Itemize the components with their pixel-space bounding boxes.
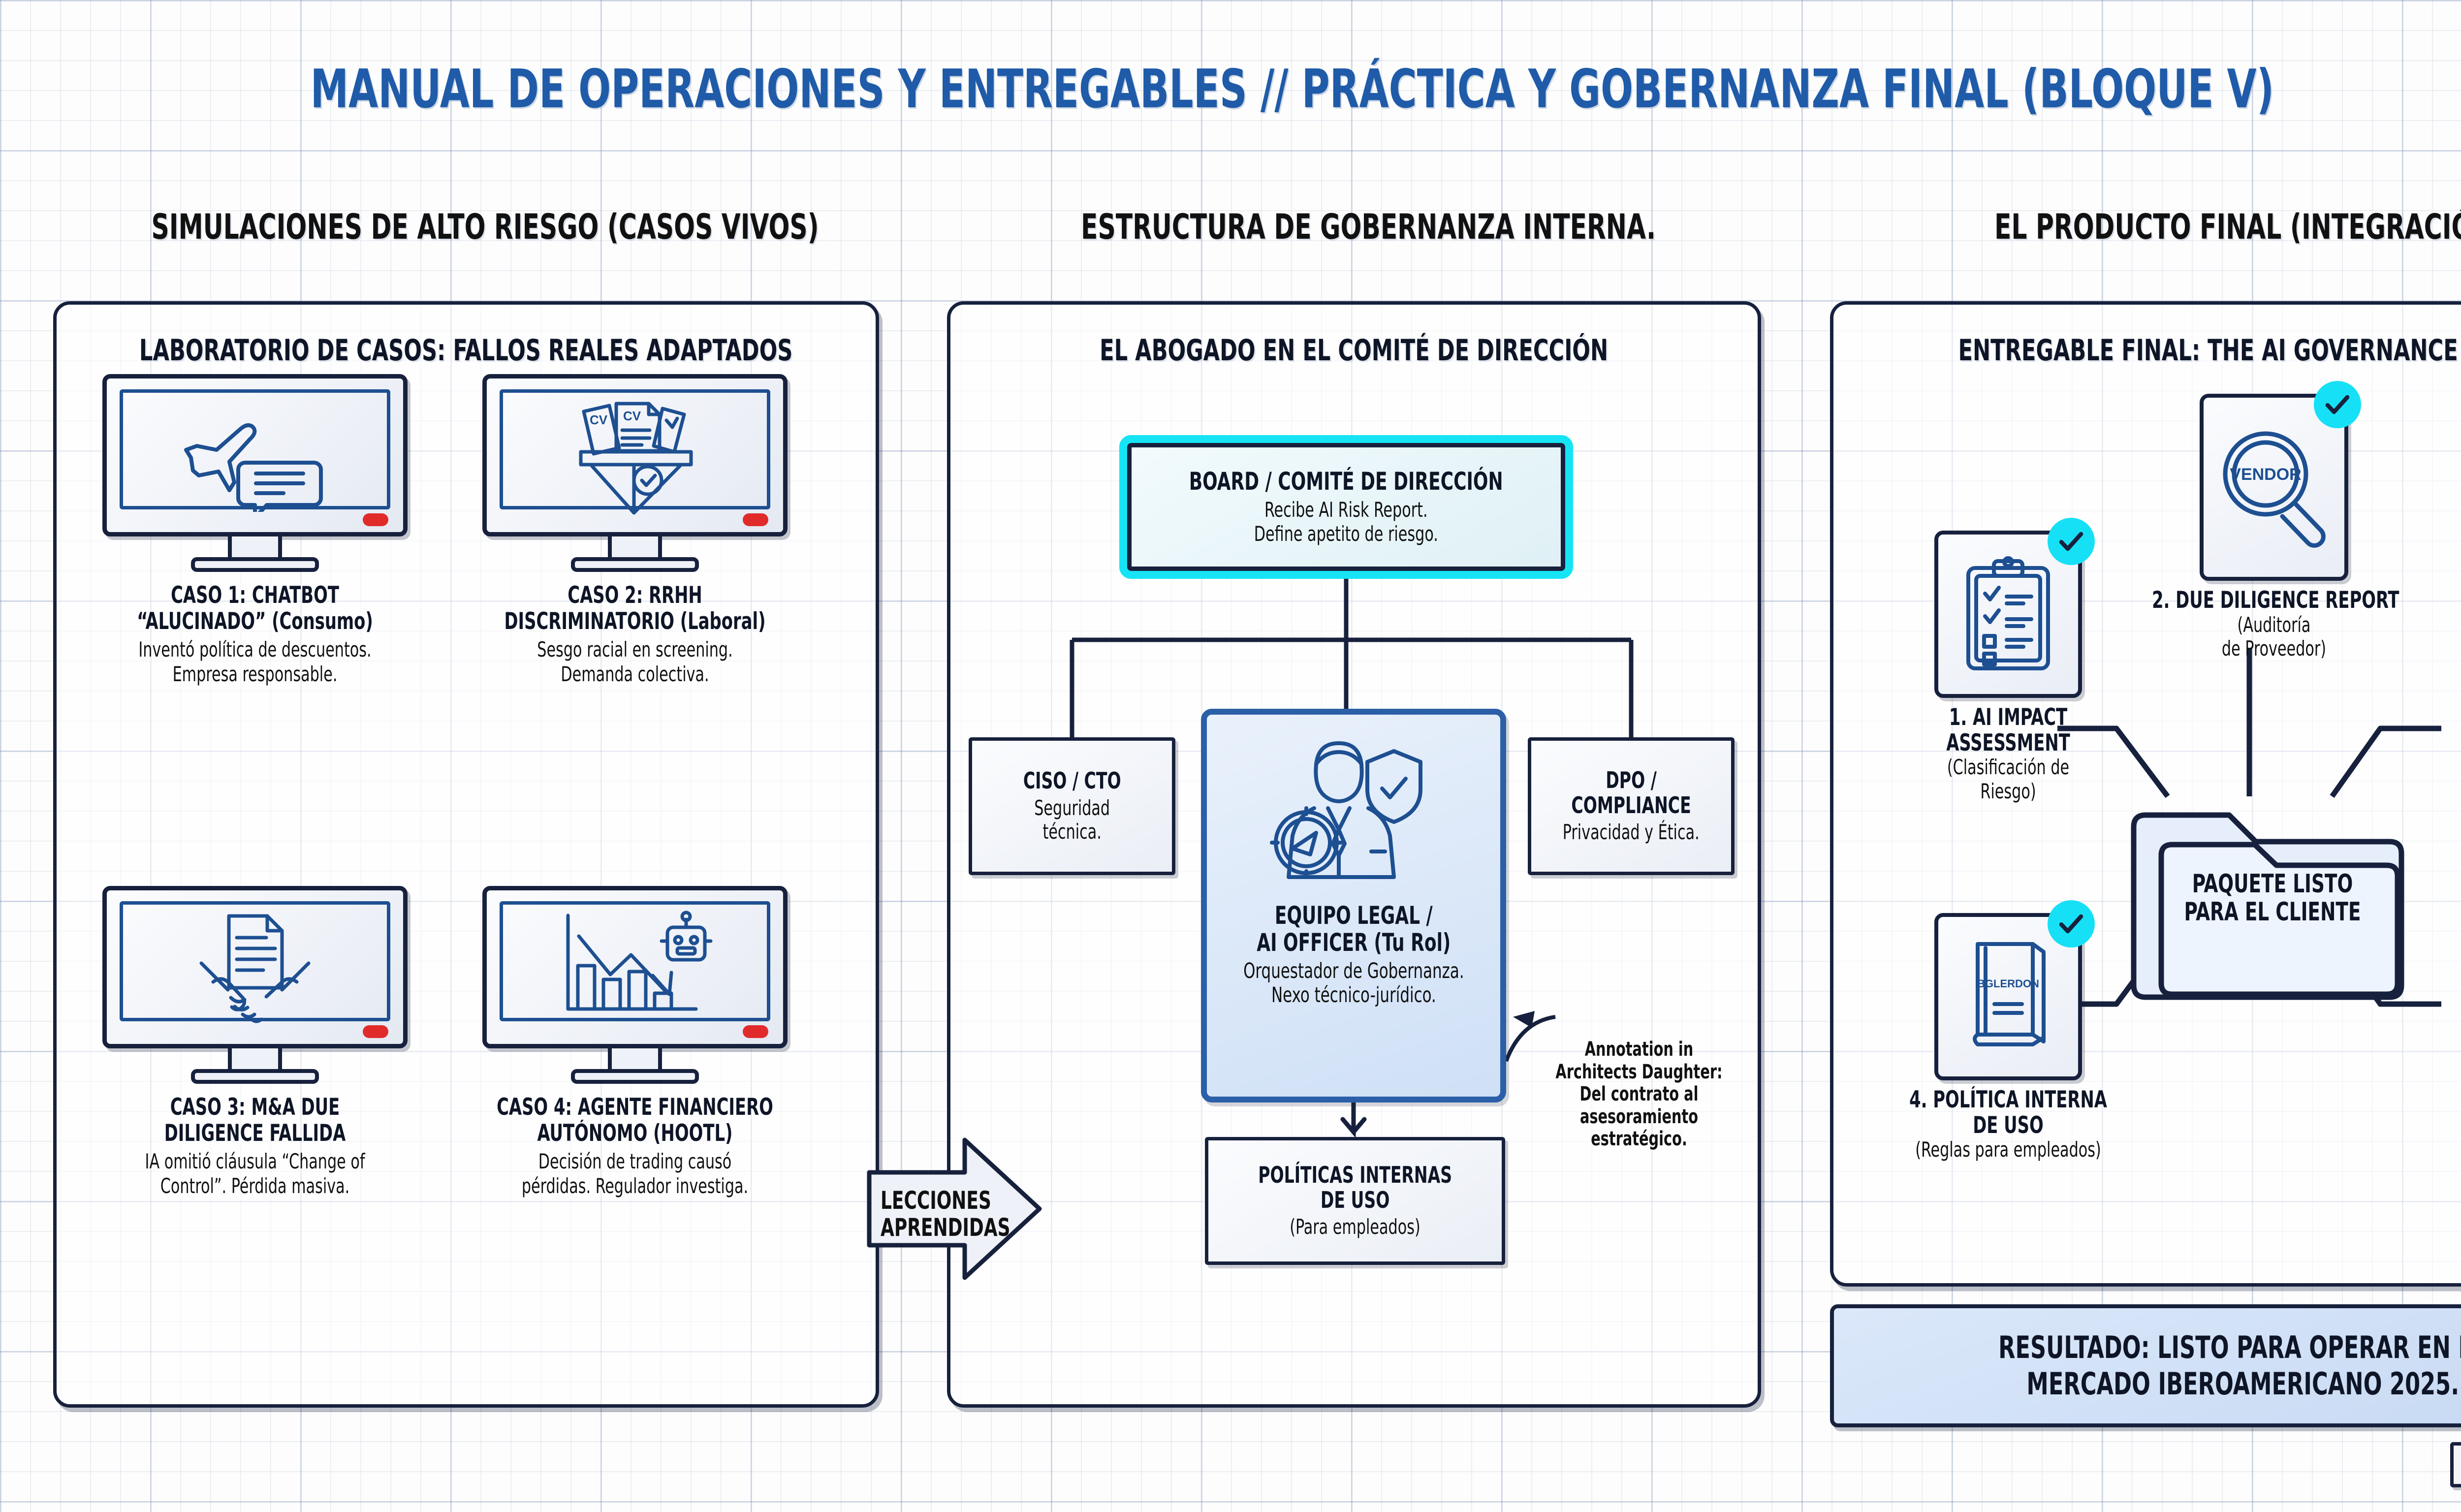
monitor-led-icon (743, 513, 768, 526)
clipboard-checklist-icon (1961, 555, 2055, 673)
officer-shield-compass-icon (1265, 729, 1442, 894)
deliverable-3-label: 3. AI ADDENDUM (2412, 705, 2461, 730)
node-politicas-internas[interactable]: POLÍTICAS INTERNAS DE USO (Para empleado… (1205, 1137, 1505, 1265)
check-badge-icon (2048, 518, 2095, 565)
case-card-1-desc: Inventó política de descuentos. Empresa … (73, 637, 437, 686)
deliverable-2-sheet: VENDOR (2200, 394, 2348, 581)
node-ciso-cto[interactable]: CISO / CTO Seguridad técnica. (969, 737, 1175, 875)
handshake-document-icon (107, 890, 403, 1044)
deliverable-5-label: 5. BOARD RISK REPORT (2412, 1087, 2461, 1138)
deliverable-4-label: 4. POLÍTICA INTERNA DE USO (1880, 1087, 2136, 1138)
check-badge-icon (2048, 900, 2095, 947)
panel-1-title: LABORATORIO DE CASOS: FALLOS REALES ADAP… (57, 333, 876, 368)
monitor-led-icon (363, 1025, 388, 1038)
deliverable-card-4[interactable]: BGLERDON 4. POLÍTICA INTERNA DE USO (Reg… (1880, 913, 2136, 1162)
annotation-note: Annotation in Architects Daughter: Del c… (1521, 1039, 1757, 1151)
node-equipo-legal[interactable]: EQUIPO LEGAL / AI OFFICER (Tu Rol) Orque… (1201, 709, 1506, 1102)
monitor-illustration: CV CV (482, 374, 788, 571)
monitor-illustration (102, 374, 408, 571)
case-card-2-desc: Sesgo racial en screening. Demanda colec… (453, 637, 817, 686)
column-header-simulaciones: SIMULACIONES DE ALTO RIESGO (CASOS VIVOS… (68, 207, 902, 247)
case-card-3[interactable]: CASO 3: M&A DUE DILIGENCE FALLIDA IA omi… (73, 886, 437, 1198)
airplane-chat-icon (107, 378, 403, 532)
case-card-2[interactable]: CV CV CASO 2: RRHH DISCRIMINATORIO (Labo… (453, 374, 817, 686)
deliverable-1-sub: (Clasificación de Riesgo) (1880, 756, 2136, 803)
node-board[interactable]: BOARD / COMITÉ DE DIRECCIÓN Recibe AI Ri… (1127, 443, 1565, 571)
monitor-illustration (482, 886, 788, 1083)
node-dpo-compliance[interactable]: DPO / COMPLIANCE Privacidad y Ética. (1528, 737, 1735, 875)
monitor-illustration (102, 886, 408, 1083)
deliverable-card-1[interactable]: 1. AI IMPACT ASSESSMENT (Clasificación d… (1880, 531, 2136, 803)
policy-book-title: BGLERDON (1977, 977, 2039, 990)
column-header-producto-final: EL PRODUCTO FINAL (INTEGRACIÓN). (1929, 207, 2461, 247)
author-handle-tag: @SCavanna (2450, 1442, 2461, 1487)
page-title-part2: // PRÁCTICA Y GOBERNANZA FINAL (BLOQUE V… (1247, 59, 2274, 120)
case-card-4[interactable]: CASO 4: AGENTE FINANCIERO AUTÓNOMO (HOOT… (453, 886, 817, 1198)
policy-book-icon: BGLERDON (1959, 935, 2057, 1058)
page-title-part1: MANUAL DE OPERACIONES Y ENTREGABLES (311, 59, 1247, 120)
monitor-led-icon (743, 1025, 768, 1038)
deliverable-1-label: 1. AI IMPACT ASSESSMENT (1880, 705, 2136, 756)
check-badge-icon (2314, 381, 2361, 428)
deliverable-card-2[interactable]: VENDOR 2. DUE DILIGENCE REPORT (Auditorí… (2121, 394, 2427, 661)
svg-text:CV: CV (590, 412, 608, 427)
panel-2-title: EL ABOGADO EN EL COMITÉ DE DIRECCIÓN (950, 333, 1758, 368)
deliverable-2-sub: (Auditoría de Proveedor) (2121, 613, 2427, 661)
case-card-3-desc: IA omitió cláusula “Change of Control”. … (73, 1149, 437, 1198)
page-title: MANUAL DE OPERACIONES Y ENTREGABLES // P… (65, 58, 2461, 117)
folder-paquete-listo[interactable]: PAQUETE LISTO PARA EL CLIENTE (2125, 792, 2420, 1004)
result-banner: RESULTADO: LISTO PARA OPERAR EN EL MERCA… (1830, 1304, 2461, 1427)
vendor-icon-text: VENDOR (2230, 465, 2301, 484)
deliverable-card-3[interactable]: CONTRACT 3. AI ADDENDUM (Contrato Enterp… (2412, 531, 2461, 778)
case-card-1-title: CASO 1: CHATBOT “ALUCINADO” (Consumo) (73, 583, 437, 634)
deliverable-1-sheet (1934, 531, 2082, 698)
case-card-3-title: CASO 3: M&A DUE DILIGENCE FALLIDA (73, 1095, 437, 1146)
case-card-4-title: CASO 4: AGENTE FINANCIERO AUTÓNOMO (HOOT… (453, 1095, 817, 1146)
panel-3-title: ENTREGABLE FINAL: THE AI GOVERNANCE PACK (1833, 333, 2461, 368)
lessons-learned-arrow: LECCIONES APRENDIDAS (866, 1130, 1043, 1288)
svg-text:CV: CV (623, 409, 641, 423)
deliverable-4-sheet: BGLERDON (1934, 913, 2082, 1080)
lessons-learned-label: LECCIONES APRENDIDAS (869, 1187, 982, 1241)
case-card-1[interactable]: CASO 1: CHATBOT “ALUCINADO” (Consumo) In… (73, 374, 437, 686)
robot-falling-chart-icon (487, 890, 783, 1044)
deliverable-2-label: 2. DUE DILIGENCE REPORT (2121, 588, 2427, 613)
column-header-gobernanza: ESTRUCTURA DE GOBERNANZA INTERNA. (1009, 207, 1728, 247)
deliverable-5-sub: (Resumen Ejecutivo) (2412, 1138, 2461, 1162)
deliverable-3-sub: (Contrato Enterprise Completo) (2412, 730, 2461, 778)
case-card-4-desc: Decisión de trading causó pérdidas. Regu… (453, 1149, 817, 1198)
monitor-led-icon (363, 513, 388, 526)
cv-funnel-icon: CV CV (487, 378, 783, 532)
deliverable-4-sub: (Reglas para empleados) (1880, 1138, 2136, 1162)
magnifier-vendor-icon: VENDOR (2217, 426, 2331, 549)
case-card-2-title: CASO 2: RRHH DISCRIMINATORIO (Laboral) (453, 583, 817, 634)
folder-label: PAQUETE LISTO PARA EL CLIENTE (2125, 870, 2420, 926)
